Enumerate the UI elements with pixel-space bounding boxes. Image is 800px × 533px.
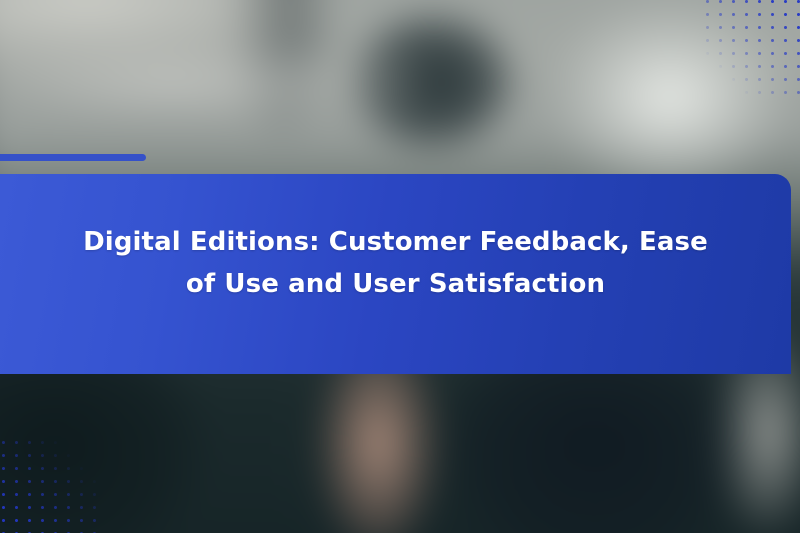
hero-card: Digital Editions: Customer Feedback, Eas… xyxy=(0,0,800,533)
accent-bar xyxy=(0,154,146,161)
dot-grid-bottom-left-icon xyxy=(0,435,100,533)
title-banner: Digital Editions: Customer Feedback, Eas… xyxy=(0,174,791,374)
page-title: Digital Editions: Customer Feedback, Eas… xyxy=(70,221,721,305)
dot-grid-top-right-icon xyxy=(700,0,800,98)
